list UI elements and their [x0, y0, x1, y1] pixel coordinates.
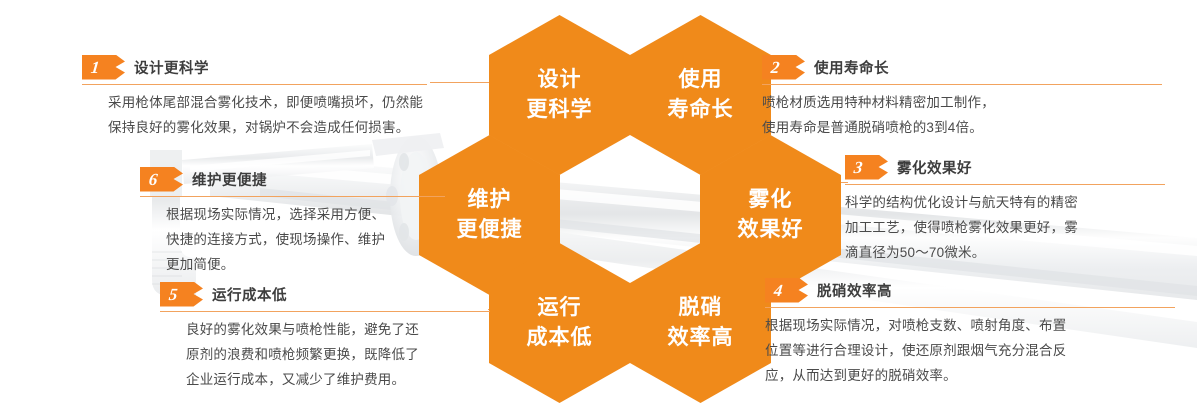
divider-rule: [160, 311, 490, 312]
feature-title: 设计更科学: [134, 57, 209, 78]
divider-rule: [140, 196, 445, 197]
feature-title: 运行成本低: [212, 284, 287, 305]
divider-rule: [762, 84, 1162, 85]
feature-header: 3 雾化效果好: [845, 154, 1165, 180]
feature-body: 良好的雾化效果与喷枪性能，避免了还 原剂的浪费和喷枪频繁更换，既降低了 企业运行…: [160, 318, 490, 393]
hexagon-low-operating-cost[interactable]: 运行 成本低: [489, 243, 630, 403]
number-badge-2: 2: [762, 55, 805, 80]
feature-title: 雾化效果好: [897, 157, 972, 178]
feature-header: 5 运行成本低: [160, 281, 490, 307]
feature-body: 根据现场实际情况，选择采用方便、 快捷的连接方式，使现场操作、维护 更加简便。: [140, 203, 445, 278]
feature-header: 4 脱硝效率高: [765, 277, 1175, 303]
feature-block-4: 4 脱硝效率高 根据现场实际情况，对喷枪支数、喷射角度、布置 位置等进行合理设计…: [765, 277, 1175, 389]
feature-title: 维护更便捷: [192, 169, 267, 190]
number-badge-4: 4: [765, 278, 808, 303]
number-badge-1: 1: [82, 55, 125, 80]
feature-body: 科学的结构优化设计与航天特有的精密 加工工艺，使得喷枪雾化效果更好，雾 滴直径为…: [845, 191, 1165, 266]
feature-body: 采用枪体尾部混合雾化技术，即便喷嘴损坏，仍然能 保持良好的雾化效果，对锅炉不会造…: [82, 91, 466, 141]
feature-body: 根据现场实际情况，对喷枪支数、喷射角度、布置 位置等进行合理设计，使还原剂跟烟气…: [765, 314, 1175, 389]
feature-block-1: 1 设计更科学 采用枪体尾部混合雾化技术，即便喷嘴损坏，仍然能 保持良好的雾化效…: [82, 54, 466, 141]
number-badge-5: 5: [160, 282, 203, 307]
feature-header: 1 设计更科学: [82, 54, 466, 80]
feature-block-2: 2 使用寿命长 喷枪材质选用特种材料精密加工制作， 使用寿命是普通脱硝喷枪的3到…: [762, 54, 1162, 141]
feature-body: 喷枪材质选用特种材料精密加工制作， 使用寿命是普通脱硝喷枪的3到4倍。: [762, 91, 1162, 141]
badge-number: 1: [90, 59, 100, 76]
feature-title: 使用寿命长: [814, 57, 889, 78]
number-badge-3: 3: [845, 155, 888, 180]
feature-header: 2 使用寿命长: [762, 54, 1162, 80]
hexagon-label: 运行 成本低: [489, 243, 630, 403]
hexagon-high-denitrification-efficiency[interactable]: 脱硝 效率高: [630, 243, 771, 403]
divider-rule: [765, 307, 1175, 308]
feature-block-3: 3 雾化效果好 科学的结构优化设计与航天特有的精密 加工工艺，使得喷枪雾化效果更…: [845, 154, 1165, 266]
divider-rule: [82, 84, 427, 85]
number-badge-6: 6: [140, 167, 183, 192]
badge-number: 3: [853, 159, 863, 176]
badge-number: 6: [148, 171, 158, 188]
badge-number: 4: [773, 282, 783, 299]
feature-block-6: 6 维护更便捷 根据现场实际情况，选择采用方便、 快捷的连接方式，使现场操作、维…: [140, 166, 445, 278]
feature-title: 脱硝效率高: [817, 280, 892, 301]
infographic-canvas: 设计 更科学 使用 寿命长 维护 更便捷 雾化 效果好 运行 成本低 脱硝 效率…: [0, 0, 1197, 413]
feature-header: 6 维护更便捷: [140, 166, 445, 192]
badge-number: 2: [770, 59, 780, 76]
divider-rule: [845, 184, 1165, 185]
hexagon-label: 脱硝 效率高: [630, 243, 771, 403]
feature-block-5: 5 运行成本低 良好的雾化效果与喷枪性能，避免了还 原剂的浪费和喷枪频繁更换，既…: [160, 281, 490, 393]
badge-number: 5: [168, 286, 178, 303]
